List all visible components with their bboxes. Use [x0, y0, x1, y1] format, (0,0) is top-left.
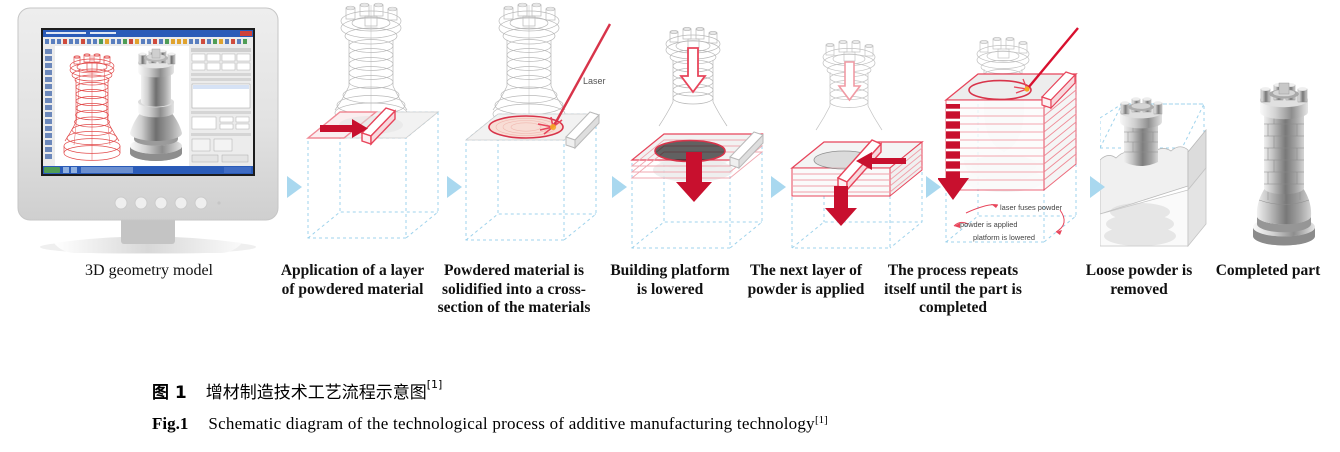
step-panel-next-layer [786, 0, 946, 258]
flow-arrow-3 [612, 176, 627, 198]
step-panel-finished-part [1228, 0, 1340, 258]
repeat-process-illustration: laser fuses powder powder is applied pla… [938, 0, 1113, 258]
flow-arrow-5 [926, 176, 941, 198]
cad-monitor-illustration [8, 0, 288, 258]
completed-rook [1253, 83, 1315, 246]
figure-caption-cn-text: 增材制造技术工艺流程示意图 [206, 378, 427, 403]
cad-start-button [44, 167, 60, 173]
annotation-laser-fuses-powder: laser fuses powder [1000, 203, 1063, 212]
depowder-illustration [1100, 0, 1240, 258]
annotation-callouts: laser fuses powder powder is applied pla… [954, 203, 1064, 242]
step-panel-depowder [1100, 0, 1240, 258]
partially-buried-rook [1120, 97, 1162, 166]
laser-label: Laser [583, 76, 606, 86]
step-panel-cad-monitor [8, 0, 288, 258]
part-wireframe [335, 3, 407, 123]
cad-title-text [46, 32, 116, 34]
cad-taskbar-item [81, 167, 133, 173]
step-caption-5: The process repeats itself until the par… [884, 262, 1022, 318]
figure-caption-en-label: Fig.1 [152, 414, 188, 434]
figure-page: Laser [0, 0, 1340, 452]
figure-caption-en: Fig.1 Schematic diagram of the technolog… [0, 414, 1340, 434]
part-wireframe [493, 3, 565, 124]
power-led [217, 201, 220, 204]
step-panel-repeat-process: laser fuses powder powder is applied pla… [938, 0, 1113, 258]
cad-system-tray [224, 167, 251, 173]
cad-window-controls [240, 31, 252, 36]
step-caption-4: The next layer of powder is applied [742, 262, 870, 299]
step-caption-1: Application of a layer of powdered mater… [280, 262, 425, 299]
step-caption-3: Building platform is lowered [610, 262, 730, 299]
figure-caption-cn-ref: [1] [427, 378, 443, 391]
flow-arrow-2 [447, 176, 462, 198]
hatch-lines [946, 110, 960, 170]
down-arrow-outline [681, 48, 705, 92]
flow-arrow-1 [287, 176, 302, 198]
step-caption-0: 3D geometry model [20, 262, 278, 281]
step-caption-7: Completed part [1212, 262, 1324, 281]
laser-fuse-illustration: Laser [458, 0, 628, 258]
step-caption-6: Loose powder is removed [1078, 262, 1200, 299]
figure-caption-en-text: Schematic diagram of the technological p… [208, 414, 815, 434]
step-caption-2: Powdered material is solidified into a c… [428, 262, 600, 318]
next-layer-illustration [786, 0, 946, 258]
figure-caption-cn-label: 图 1 [152, 378, 187, 403]
recoater-sweep-illustration [298, 0, 458, 258]
finished-part-illustration [1228, 0, 1340, 258]
step-panel-platform-lower [626, 0, 786, 258]
flow-arrow-6 [1090, 176, 1105, 198]
step-panel-recoater-sweep [298, 0, 458, 258]
step-panel-laser-fuse: Laser [458, 0, 628, 258]
figure-caption-cn: 图 1 增材制造技术工艺流程示意图 [1] [0, 378, 1340, 403]
figure-caption-en-ref: [1] [815, 414, 828, 426]
annotation-platform-is-lowered: platform is lowered [973, 233, 1035, 242]
flow-arrow-4 [771, 176, 786, 198]
platform-lower-illustration [626, 0, 786, 258]
annotation-powder-is-applied: powder is applied [960, 220, 1018, 229]
